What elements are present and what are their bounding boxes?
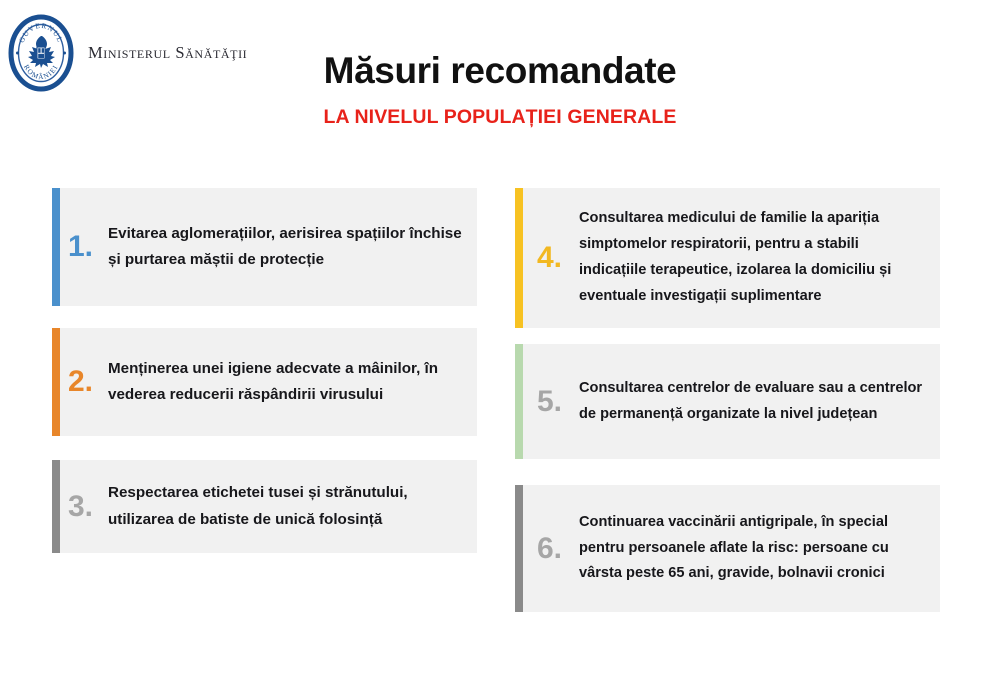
measure-card: 3. Respectarea etichetei tusei și strănu… — [52, 460, 477, 553]
measure-card: 6. Continuarea vaccinării antigripale, î… — [515, 485, 940, 612]
measure-text: Menținerea unei igiene adecvate a mâinil… — [108, 356, 477, 408]
page-subtitle: LA NIVELUL POPULAȚIEI GENERALE — [0, 107, 1000, 127]
measure-number: 3. — [62, 492, 108, 522]
measure-number: 5. — [531, 387, 579, 417]
accent-bar — [515, 188, 523, 328]
measure-text: Consultarea medicului de familie la apar… — [579, 206, 940, 310]
accent-bar — [52, 460, 60, 553]
accent-bar — [515, 344, 523, 459]
measure-card: 2. Menținerea unei igiene adecvate a mâi… — [52, 328, 477, 436]
page-title: Măsuri recomandate — [0, 52, 1000, 91]
measure-text: Consultarea centrelor de evaluare sau a … — [579, 376, 940, 428]
measures-column-left: 1. Evitarea aglomerațiilor, aerisirea sp… — [52, 188, 477, 553]
measures-column-right: 4. Consultarea medicului de familie la a… — [515, 188, 940, 612]
page-header: GUVERNUL ROMÂNIEI Ministerul Sănătăţii M… — [0, 0, 1000, 170]
accent-bar — [52, 328, 60, 436]
title-block: Măsuri recomandate LA NIVELUL POPULAȚIEI… — [0, 52, 1000, 127]
measure-text: Respectarea etichetei tusei și strănutul… — [108, 480, 477, 532]
measure-card: 4. Consultarea medicului de familie la a… — [515, 188, 940, 328]
measures-grid: 1. Evitarea aglomerațiilor, aerisirea sp… — [52, 188, 948, 608]
measure-number: 6. — [531, 534, 579, 564]
accent-bar — [52, 188, 60, 306]
accent-bar — [515, 485, 523, 612]
measure-number: 4. — [531, 243, 579, 273]
measure-number: 1. — [62, 232, 108, 262]
measure-text: Evitarea aglomerațiilor, aerisirea spați… — [108, 221, 477, 273]
measure-number: 2. — [62, 367, 108, 397]
measure-text: Continuarea vaccinării antigripale, în s… — [579, 510, 940, 588]
measure-card: 5. Consultarea centrelor de evaluare sau… — [515, 344, 940, 459]
measure-card: 1. Evitarea aglomerațiilor, aerisirea sp… — [52, 188, 477, 306]
